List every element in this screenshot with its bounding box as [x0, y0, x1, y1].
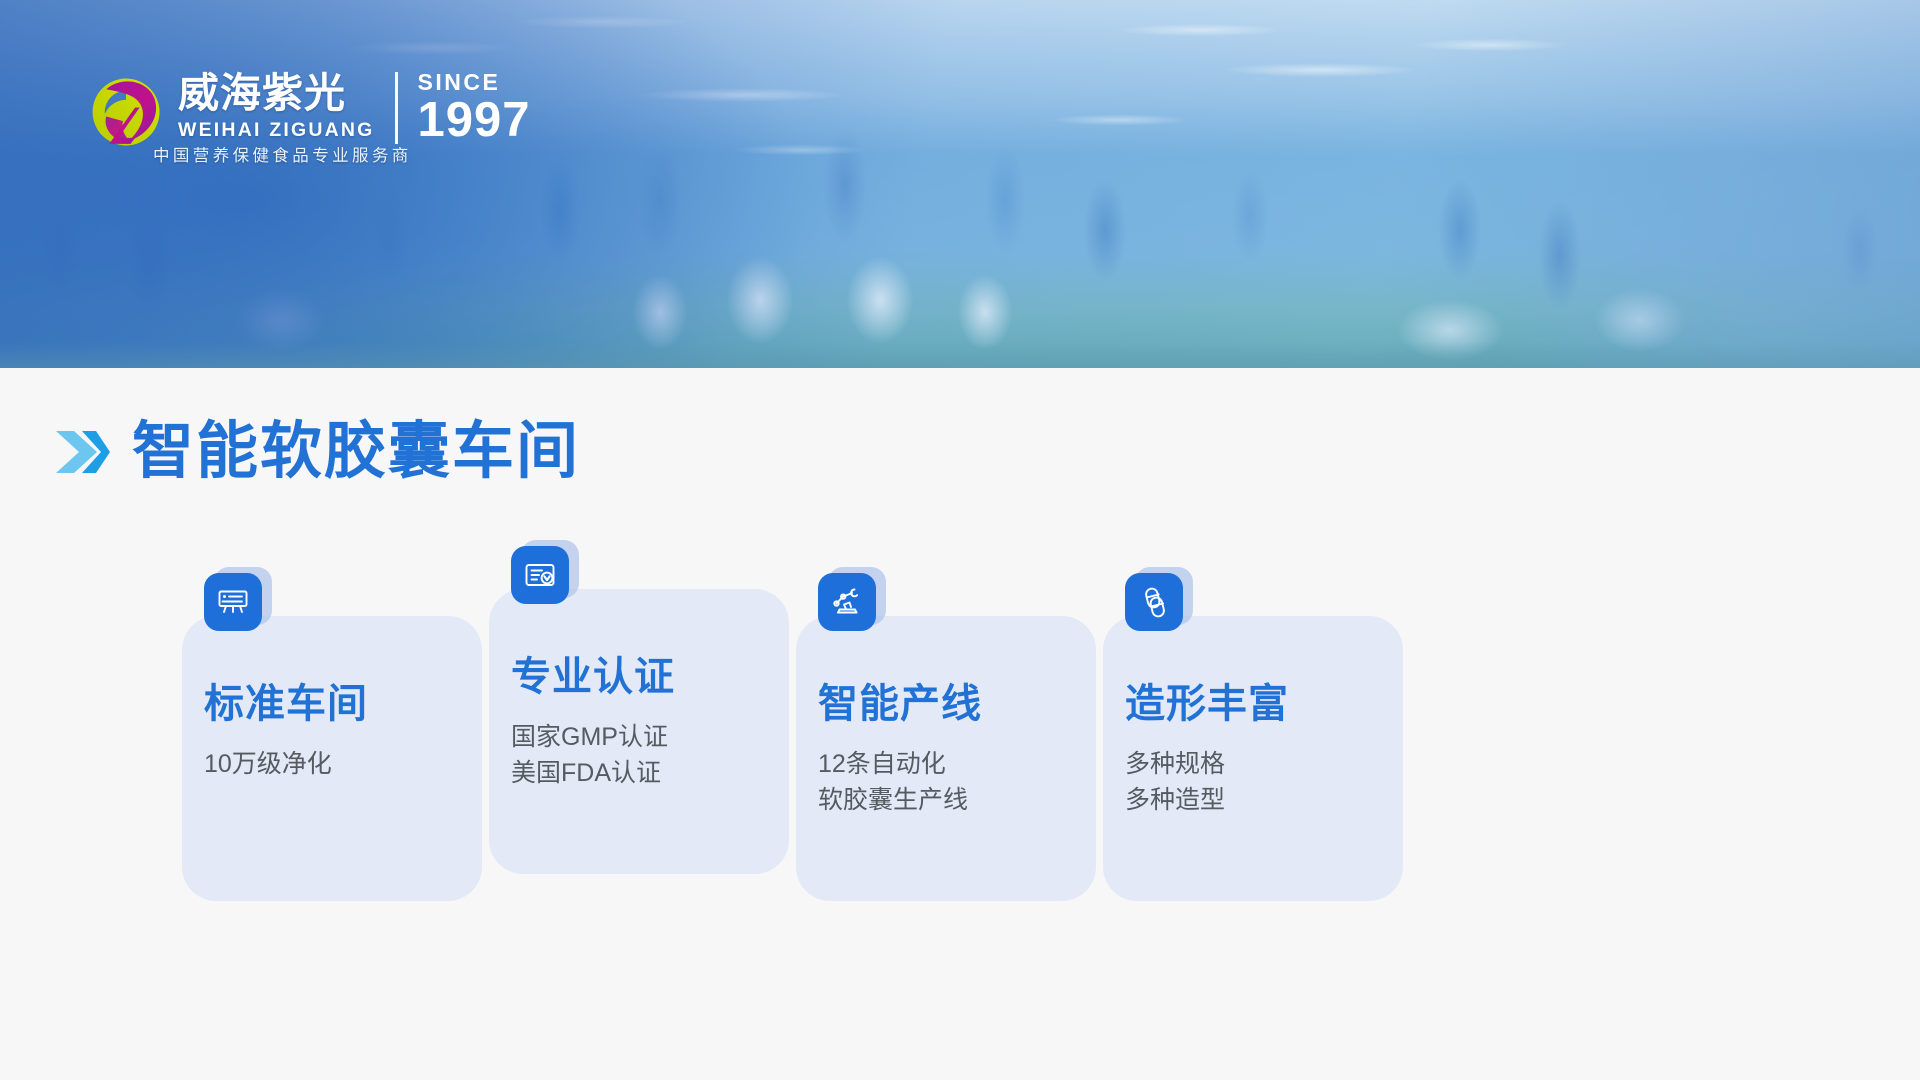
- capsule-glyph: [1136, 584, 1172, 620]
- card-subtext: 12条自动化 软胶囊生产线: [818, 746, 1074, 818]
- brand-tagline: 中国营养保健食品专业服务商: [153, 142, 412, 166]
- softgel-capsule-icon: [1125, 573, 1187, 635]
- since-block: SINCE 1997: [418, 70, 531, 145]
- logo-name-cn: 威海紫光: [178, 70, 375, 116]
- card-title: 智能产线: [818, 680, 1074, 728]
- page-title: 智能软胶囊车间: [132, 418, 580, 486]
- card-title: 标准车间: [204, 680, 460, 728]
- card-body: 智能产线 12条自动化 软胶囊生产线: [796, 616, 1096, 901]
- weihai-ziguang-z-logo-icon: [88, 74, 164, 150]
- card-subtext: 10万级净化: [204, 746, 460, 782]
- card-body: 专业认证 国家GMP认证 美国FDA认证: [489, 589, 789, 874]
- card-subtext-line: 国家GMP认证: [511, 719, 767, 755]
- banner-blue-overlay: [0, 0, 1920, 368]
- logo-divider: [395, 72, 398, 144]
- since-year: 1997: [418, 95, 531, 145]
- card-subtext: 国家GMP认证 美国FDA认证: [511, 719, 767, 791]
- card-subtext-line: 10万级净化: [204, 746, 460, 782]
- feature-card-row: 标准车间 10万级净化: [182, 573, 1403, 901]
- card-title: 造形丰富: [1125, 680, 1381, 728]
- card-subtext-line: 美国FDA认证: [511, 755, 767, 791]
- icon-tile: [204, 573, 262, 631]
- double-chevron-right-icon: [54, 427, 112, 477]
- icon-tile: [1125, 573, 1183, 631]
- robot-arm-glyph: [829, 584, 865, 620]
- feature-card-smart-line[interactable]: 智能产线 12条自动化 软胶囊生产线: [796, 573, 1096, 901]
- card-subtext-line: 软胶囊生产线: [818, 782, 1074, 818]
- icon-tile: [511, 546, 569, 604]
- certificate-badge-icon: [511, 546, 573, 608]
- card-body: 造形丰富 多种规格 多种造型: [1103, 616, 1403, 901]
- since-label: SINCE: [418, 70, 531, 95]
- banner-bottom-fade: [0, 342, 1920, 368]
- card-subtext: 多种规格 多种造型: [1125, 746, 1381, 818]
- air-filter-glyph: [215, 584, 251, 620]
- logo-name-en: WEIHAI ZIGUANG: [178, 118, 375, 142]
- robotic-arm-icon: [818, 573, 880, 635]
- card-subtext-line: 多种造型: [1125, 782, 1381, 818]
- logo-text-block: 威海紫光 WEIHAI ZIGUANG SINCE 1997: [178, 70, 531, 145]
- feature-card-certification[interactable]: 专业认证 国家GMP认证 美国FDA认证: [489, 546, 789, 901]
- card-body: 标准车间 10万级净化: [182, 616, 482, 901]
- hero-banner: 威海紫光 WEIHAI ZIGUANG SINCE 1997 中国营养保健食品专…: [0, 0, 1920, 368]
- card-subtext-line: 多种规格: [1125, 746, 1381, 782]
- page-root: 威海紫光 WEIHAI ZIGUANG SINCE 1997 中国营养保健食品专…: [0, 0, 1920, 1080]
- cleanroom-air-filter-icon: [204, 573, 266, 635]
- card-title: 专业认证: [511, 653, 767, 701]
- feature-card-shapes[interactable]: 造形丰富 多种规格 多种造型: [1103, 573, 1403, 901]
- certificate-glyph: [522, 557, 558, 593]
- card-subtext-line: 12条自动化: [818, 746, 1074, 782]
- brand-logo-lockup: 威海紫光 WEIHAI ZIGUANG SINCE 1997: [88, 70, 531, 150]
- feature-card-standard-workshop[interactable]: 标准车间 10万级净化: [182, 573, 482, 901]
- section-heading: 智能软胶囊车间: [54, 418, 580, 486]
- icon-tile: [818, 573, 876, 631]
